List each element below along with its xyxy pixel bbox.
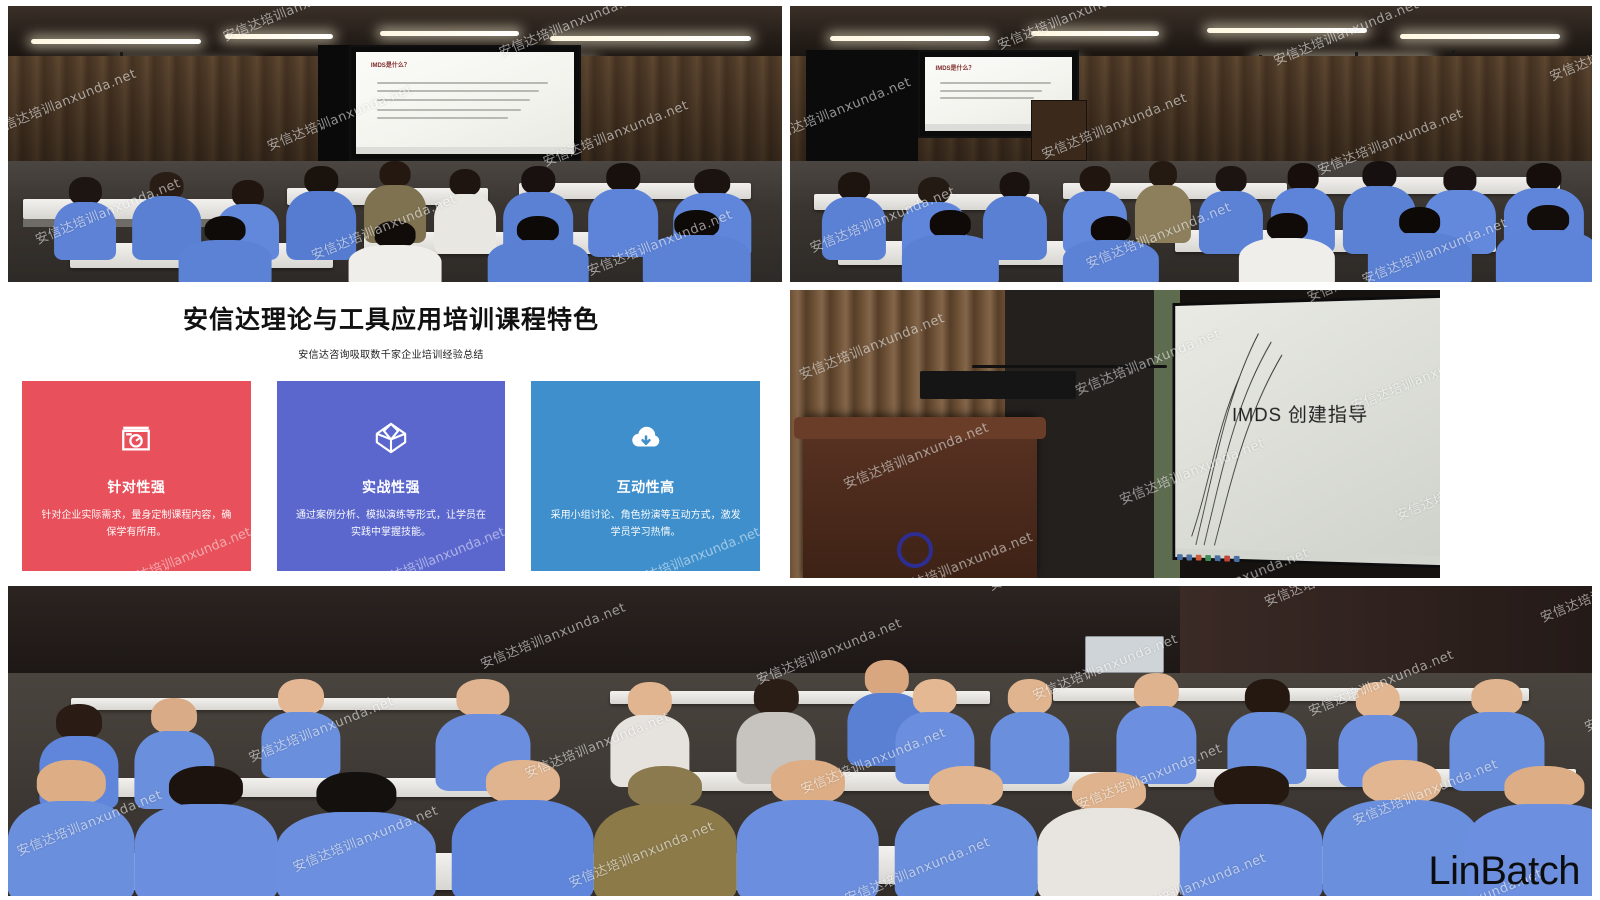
course-features-block: 安信达理论与工具应用培训课程特色 安信达咨询吸取数千家企业培训经验总结 针对性强… (0, 284, 782, 581)
feature-card-2-title: 实战性强 (362, 477, 420, 497)
podium-logo (897, 532, 933, 568)
feature-card-1[interactable]: 针对性强 针对企业实际需求，量身定制课程内容，确保学有所用。 安信达培训anxu… (22, 381, 251, 571)
page-subtitle: 安信达咨询吸取数千家企业培训经验总结 (0, 346, 782, 361)
photo-classroom-left: IMDS是什么？ (8, 6, 782, 282)
feature-card-1-desc: 针对企业实际需求，量身定制课程内容，确保学有所用。 (22, 507, 251, 541)
taskbar (1175, 548, 1440, 565)
collage-page: IMDS是什么？ (0, 0, 1600, 900)
projection-screen: IMDS是什么？ (349, 45, 581, 161)
photo-classroom-right: IMDS是什么？ (790, 6, 1592, 282)
lectern-monitor (920, 371, 1076, 400)
microphone (972, 365, 1167, 368)
screen-title: IMDS 创建指导 (1232, 400, 1368, 428)
feature-card-2-desc: 通过案例分析、模拟演练等形式，让学员在实践中掌握技能。 (277, 507, 506, 541)
cloud-download-icon (629, 421, 663, 455)
feature-card-3-title: 互动性高 (617, 477, 675, 497)
camera-icon (119, 421, 153, 455)
feature-card-3[interactable]: 互动性高 采用小组讨论、角色扮演等互动方式，激发学员学习热情。 安信达培训anx… (531, 381, 760, 571)
slide-title: IMDS是什么？ (371, 60, 410, 69)
linbatch-logo: LinBatch (1428, 849, 1580, 894)
feature-card-list: 针对性强 针对企业实际需求，量身定制课程内容，确保学有所用。 安信达培训anxu… (0, 381, 782, 571)
page-title: 安信达理论与工具应用培训课程特色 (0, 300, 782, 336)
person (54, 177, 116, 260)
feature-card-2[interactable]: 实战性强 通过案例分析、模拟演练等形式，让学员在实践中掌握技能。 安信达培训an… (277, 381, 506, 571)
feature-card-1-title: 针对性强 (107, 477, 165, 497)
cube-icon (374, 421, 408, 455)
podium (803, 417, 1037, 578)
slide-title-right: IMDS是什么？ (936, 63, 975, 72)
presentation-screen: IMDS 创建指导 (1172, 294, 1440, 568)
photo-trainees-closeup: 安信达培训anxunda.net安信达培训anxunda.net安信达培训anx… (8, 586, 1592, 896)
feature-card-3-desc: 采用小组讨论、角色扮演等互动方式，激发学员学习热情。 (531, 507, 760, 541)
photo-imds-screen: IMDS 创建指导 安信达培训anxunda.net安信达培训anxunda.n… (790, 290, 1440, 578)
